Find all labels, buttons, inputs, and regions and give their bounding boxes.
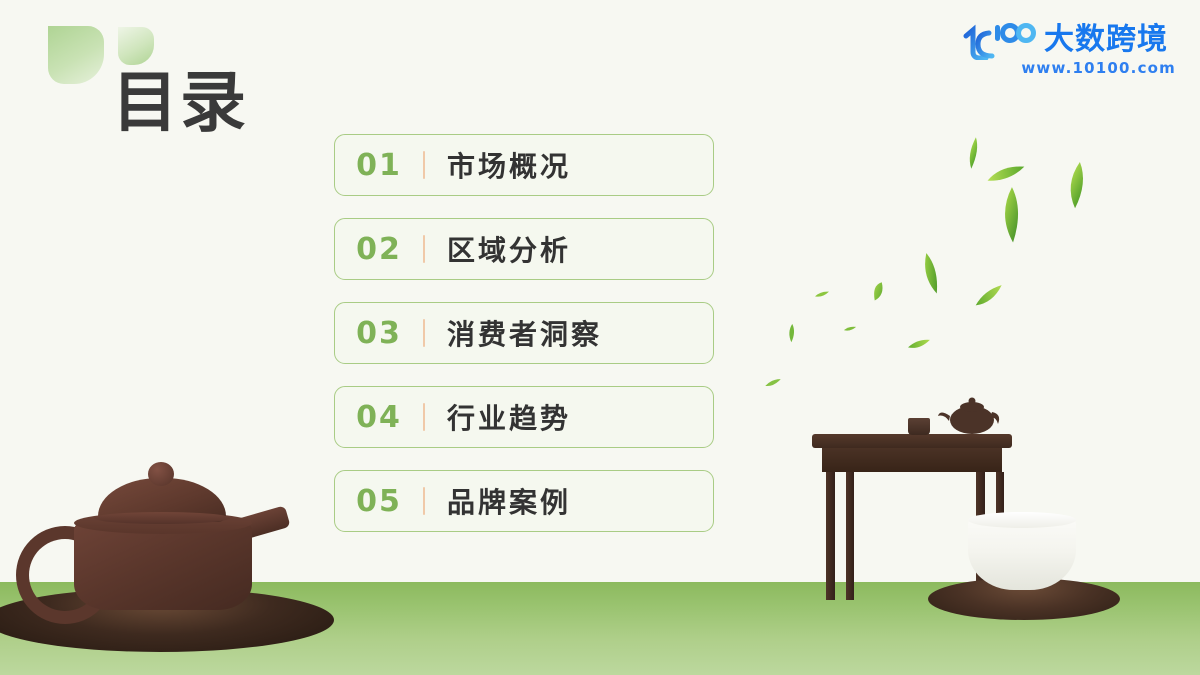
- brand-url: www.10100.com: [1021, 59, 1176, 77]
- toc-item-02[interactable]: 02 区域分析: [334, 218, 714, 280]
- floating-leaf-icon: [970, 282, 1008, 310]
- teapot-lid-rim: [94, 512, 230, 524]
- floating-leaf-icon: [814, 289, 831, 299]
- bowl-rim: [968, 512, 1076, 528]
- small-tea-cup: [908, 418, 930, 435]
- table-apron: [822, 448, 1002, 472]
- toc-item-01[interactable]: 01 市场概况: [334, 134, 714, 196]
- toc-list: 01 市场概况 02 区域分析 03 消费者洞察 04 行业趋势 05 品牌案例: [334, 134, 714, 554]
- brand-logo: 大数跨境 www.10100.com: [962, 22, 1178, 84]
- floating-leaf-icon: [785, 322, 798, 343]
- table-top: [812, 434, 1012, 448]
- toc-item-03[interactable]: 03 消费者洞察: [334, 302, 714, 364]
- floating-leaf-icon: [865, 278, 892, 304]
- leaf-mark-large-icon: [48, 26, 104, 84]
- toc-item-05[interactable]: 05 品牌案例: [334, 470, 714, 532]
- brand-name-cn: 大数跨境: [1044, 23, 1168, 57]
- floating-leaf-icon: [1057, 158, 1093, 212]
- toc-separator: [423, 235, 425, 263]
- page-title: 目录: [112, 66, 248, 140]
- small-teapot-icon: [938, 396, 1002, 436]
- floating-leaf-icon: [916, 251, 943, 298]
- table-leg: [826, 472, 835, 600]
- toc-item-04[interactable]: 04 行业趋势: [334, 386, 714, 448]
- toc-number: 04: [335, 400, 423, 435]
- toc-number: 01: [335, 148, 423, 183]
- toc-number: 03: [335, 316, 423, 351]
- toc-number: 05: [335, 484, 423, 519]
- toc-separator: [423, 487, 425, 515]
- slide-canvas: 目录 大数跨境 www.10100.com 01 市场: [0, 0, 1200, 675]
- floating-leaf-icon: [843, 325, 857, 333]
- leaf-mark-small-icon: [118, 27, 154, 65]
- 10100-logomark-icon: [962, 22, 1040, 60]
- toc-label: 区域分析: [447, 229, 571, 269]
- floating-leaf-icon: [763, 377, 782, 389]
- toc-label: 行业趋势: [447, 397, 571, 437]
- toc-separator: [423, 403, 425, 431]
- floating-leaf-icon: [985, 161, 1027, 186]
- toc-label: 消费者洞察: [447, 313, 602, 353]
- toc-label: 市场概况: [447, 145, 571, 185]
- floating-leaf-icon: [905, 337, 932, 352]
- table-leg: [846, 472, 854, 600]
- toc-label: 品牌案例: [447, 481, 571, 521]
- toc-separator: [423, 151, 425, 179]
- floating-leaf-icon: [994, 185, 1026, 245]
- floating-leaf-icon: [960, 135, 984, 172]
- toc-separator: [423, 319, 425, 347]
- teapot-knob: [148, 462, 174, 486]
- toc-number: 02: [335, 232, 423, 267]
